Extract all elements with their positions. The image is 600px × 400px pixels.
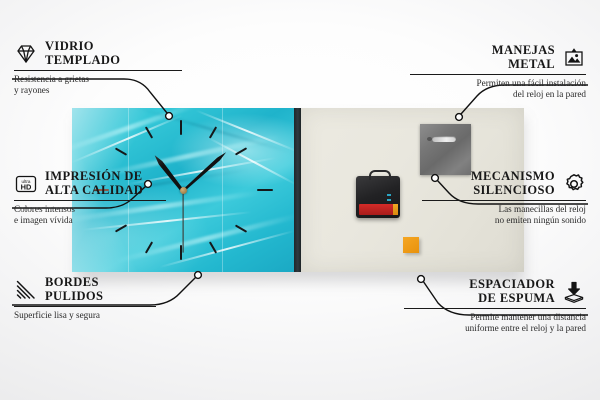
polished-edge-lines-icon bbox=[14, 278, 38, 302]
hanger-slot bbox=[432, 136, 456, 142]
hour-tick bbox=[257, 189, 273, 191]
svg-text:HD: HD bbox=[21, 182, 32, 191]
hour-tick bbox=[145, 126, 153, 138]
divider bbox=[14, 306, 156, 307]
feature-espaciador-espuma: ESPACIADOR DE ESPUMA Permite mantener un… bbox=[404, 278, 586, 334]
feature-title: VIDRIO TEMPLADO bbox=[45, 40, 120, 67]
battery bbox=[359, 204, 397, 215]
gear-icon bbox=[562, 172, 586, 196]
minute-hand bbox=[182, 151, 228, 193]
divider bbox=[14, 70, 182, 71]
divider bbox=[14, 200, 166, 201]
feature-subtitle: Las manecillas del reloj no emiten ningú… bbox=[422, 204, 586, 226]
feature-title: MANEJAS METAL bbox=[492, 44, 555, 71]
feature-title: BORDES PULIDOS bbox=[45, 276, 103, 303]
clock-mechanism bbox=[356, 176, 400, 218]
hour-tick bbox=[115, 147, 127, 155]
feature-subtitle: Colores intensos e imagen vívida bbox=[14, 204, 166, 226]
ultra-hd-icon: ultra HD bbox=[14, 172, 38, 196]
feature-title: ESPACIADOR DE ESPUMA bbox=[469, 278, 555, 305]
hour-tick bbox=[180, 120, 182, 135]
feature-manejas-metal: MANEJAS METAL Permiten una fácil instala… bbox=[410, 44, 586, 100]
hour-tick bbox=[209, 241, 217, 253]
divider bbox=[404, 308, 586, 309]
feature-bordes-pulidos: BORDES PULIDOS Superficie lisa y segura bbox=[14, 276, 156, 321]
feature-subtitle: Superficie lisa y segura bbox=[14, 310, 156, 321]
feature-subtitle: Permiten una fácil instalación del reloj… bbox=[410, 78, 586, 100]
hour-tick bbox=[235, 224, 247, 232]
hour-tick bbox=[209, 126, 217, 138]
framed-picture-hanger-icon bbox=[562, 46, 586, 70]
hour-tick bbox=[235, 147, 247, 155]
metal-hanger-plate bbox=[420, 124, 471, 175]
feature-subtitle: Permite mantener una distancia uniforme … bbox=[404, 312, 586, 334]
divider bbox=[410, 74, 586, 75]
clock-center-hub bbox=[180, 187, 187, 194]
mechanism-hook bbox=[369, 170, 391, 180]
glass-panel-edge bbox=[294, 108, 301, 272]
feature-mecanismo-silencioso: MECANISMO SILENCIOSO Las manecillas del … bbox=[422, 170, 586, 226]
foam-spacer bbox=[403, 237, 419, 253]
infographic-canvas: VIDRIO TEMPLADO Resistencia a grietas y … bbox=[0, 0, 600, 400]
arrow-press-pad-icon bbox=[562, 280, 586, 304]
diamond-icon bbox=[14, 42, 38, 66]
feature-impresion-alta-calidad: ultra HD IMPRESIÓN DE ALTA CALIDAD Color… bbox=[14, 170, 166, 226]
hour-tick bbox=[145, 241, 153, 253]
feature-title: IMPRESIÓN DE ALTA CALIDAD bbox=[45, 170, 143, 197]
second-hand bbox=[182, 191, 183, 253]
feature-title: MECANISMO SILENCIOSO bbox=[471, 170, 555, 197]
feature-subtitle: Resistencia a grietas y rayones bbox=[14, 74, 182, 96]
feature-vidrio-templado: VIDRIO TEMPLADO Resistencia a grietas y … bbox=[14, 40, 182, 96]
divider bbox=[422, 200, 586, 201]
